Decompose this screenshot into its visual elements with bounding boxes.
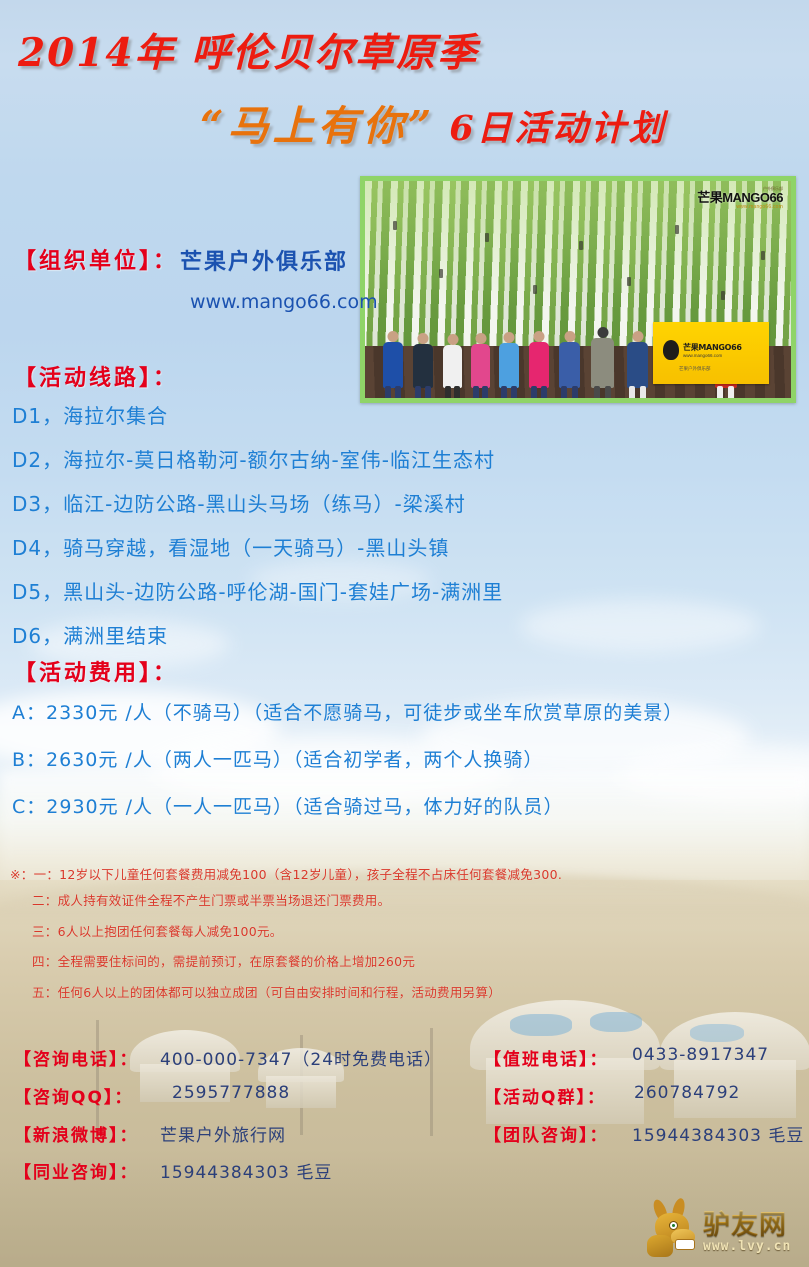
note-item: 四：全程需要住标间的，需提前预订，在原套餐的价格上增加260元 [32, 951, 415, 970]
banner-url-text: www.mango66.com [683, 353, 722, 358]
watermark-text-block: 驴友网 www.lvy.cn [703, 1203, 791, 1254]
fee-option-item: B：2630元 /人（两人一匹马）（适合初学者，两个人换骑） [12, 745, 543, 772]
mango-mark-icon [663, 340, 679, 360]
contact-label-weibo: 【新浪微博】： [14, 1121, 139, 1146]
quote-close: ” [408, 102, 436, 150]
photo-person [559, 342, 580, 388]
title-line-2: “马上有你”6日活动计划 [200, 92, 667, 152]
site-watermark[interactable]: 驴友网 www.lvy.cn [645, 1197, 805, 1263]
contact-value-duty-phone[interactable]: 0433-8917347 [632, 1045, 769, 1065]
contact-value-qq-group[interactable]: 260784792 [634, 1083, 740, 1103]
fee-option-item: C：2930元 /人（一人一匹马）（适合骑过马，体力好的队员） [12, 792, 564, 819]
watermark-site-name: 驴友网 [703, 1203, 791, 1242]
group-photo: 芒果MANGO66 www.mango66.com 芒果户外俱乐部 户外俱乐部 … [360, 176, 796, 403]
photo-person [591, 338, 614, 388]
note-item: 二：成人持有效证件全程不产生门票或半票当场退还门票费用。 [32, 890, 390, 909]
photo-person [471, 344, 490, 388]
poster-canvas: 2014年 呼伦贝尔草原季 “马上有你”6日活动计划 [0, 0, 809, 1267]
contact-value-phone[interactable]: 400-000-7347（24时免费电话） [160, 1045, 442, 1070]
note-item: 三：6人以上抱团任何套餐每人减免100元。 [32, 921, 283, 940]
photo-watermark-logo: 户外俱乐部 芒果MANGO66 www.mango66.com [697, 187, 783, 210]
contact-label-qq: 【咨询QQ】： [14, 1083, 133, 1108]
contact-label-trade: 【同业咨询】： [14, 1158, 139, 1183]
photo-person [413, 344, 433, 388]
route-day-item: D2，海拉尔-莫日格勒河-额尔古纳-室伟-临江生态村 [12, 444, 495, 473]
contact-label-qq-group: 【活动Q群】： [484, 1083, 606, 1108]
poster-title: 2014年 呼伦贝尔草原季 “马上有你”6日活动计划 [0, 0, 809, 170]
title-line-1: 2014年 呼伦贝尔草原季 [18, 22, 478, 78]
route-day-item: D1，海拉尔集合 [12, 400, 168, 429]
contact-label-phone: 【咨询电话】： [14, 1045, 139, 1070]
title-plan-label: 6日活动计划 [449, 108, 666, 149]
route-day-item: D5，黑山头-边防公路-呼伦湖-国门-套娃广场-满洲里 [12, 576, 503, 605]
photo-person [529, 342, 549, 388]
organizer-website[interactable]: www.mango66.com [190, 291, 378, 313]
donkey-mascot-icon [645, 1201, 703, 1259]
contact-label-team: 【团队咨询】： [484, 1121, 609, 1146]
note-item: ※：一：12岁以下儿童任何套餐费用减免100（含12岁儿童），孩子全程不占床任何… [10, 864, 562, 883]
route-day-item: D3，临江-边防公路-黑山头马场（练马）-梁溪村 [12, 488, 466, 517]
cloud-decor [520, 600, 760, 652]
fee-section-heading: 【活动费用】： [14, 655, 178, 687]
note-item: 五：任何6人以上的团体都可以独立成团（可自由安排时间和行程，活动费用另算） [32, 982, 501, 1001]
route-day-item: D4，骑马穿越，看湿地（一天骑马）-黑山头镇 [12, 532, 449, 561]
club-banner: 芒果MANGO66 www.mango66.com 芒果户外俱乐部 [653, 322, 769, 384]
logo-url: www.mango66.com [697, 205, 783, 210]
contact-label-duty-phone: 【值班电话】： [484, 1045, 609, 1070]
route-day-item: D6，满洲里结束 [12, 620, 168, 649]
contact-value-trade[interactable]: 15944384303 毛豆 [160, 1158, 332, 1183]
contact-value-weibo[interactable]: 芒果户外旅行网 [160, 1121, 286, 1146]
photo-person [499, 343, 519, 388]
watermark-site-url: www.lvy.cn [703, 1239, 791, 1254]
route-section-heading: 【活动线路】： [14, 360, 178, 392]
contact-value-qq[interactable]: 2595777888 [172, 1083, 290, 1103]
organizer-name: 芒果户外俱乐部 [180, 244, 348, 276]
quote-open: “ [200, 102, 228, 150]
logo-brand: 芒果MANGO66 [697, 191, 783, 204]
banner-brand-text: 芒果MANGO66 [683, 342, 742, 353]
photo-person [627, 342, 648, 388]
photo-person [443, 345, 462, 388]
photo-person [383, 342, 403, 388]
fee-option-item: A：2330元 /人（不骑马）（适合不愿骑马，可徒步或坐车欣赏草原的美景） [12, 698, 683, 725]
banner-club-text: 芒果户外俱乐部 [679, 366, 711, 372]
organizer-label: 【组织单位】： [14, 243, 178, 275]
title-slogan: 马上有你 [228, 102, 408, 150]
contact-value-team[interactable]: 15944384303 毛豆 [632, 1121, 804, 1146]
